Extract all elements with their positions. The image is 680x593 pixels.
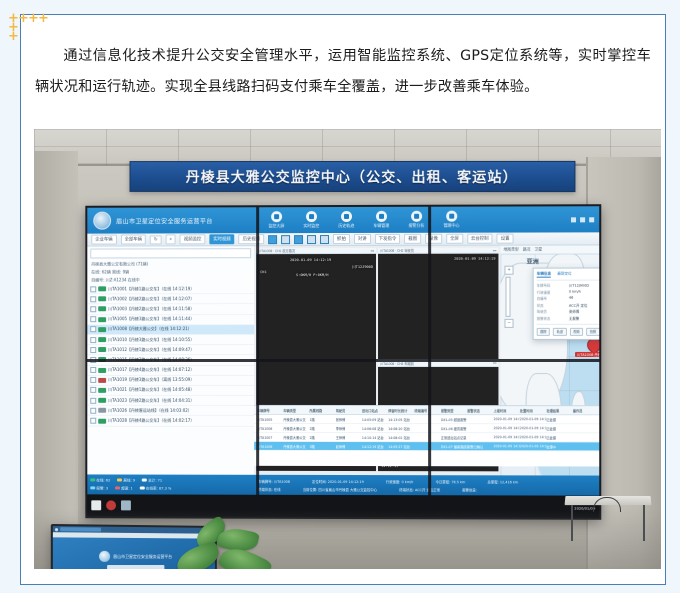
popup-field-key: 报警状态 — [537, 316, 567, 321]
status-line: 报警: 3 超速: 1 在线率: 87.3 % — [90, 484, 251, 492]
plus-mark: + — [8, 30, 19, 43]
vehicle-list-item-label: 川TA1028【丹棱4路公交车】（在线 14:02:17） — [108, 418, 194, 424]
bus-status-icon — [98, 337, 106, 342]
table-column-header[interactable]: 驾驶员 — [336, 407, 362, 412]
checkbox[interactable] — [90, 296, 96, 302]
vehicle-list-item-label: 川TA1003【丹棱2路公交车】（在线 14:11:58） — [108, 306, 194, 312]
bus-status-icon — [98, 368, 106, 373]
nav-label: 监控大屏 — [268, 223, 284, 229]
nav-item-vehicle-manage[interactable]: 车辆管理 — [369, 211, 393, 229]
center-signboard: 丹棱县大雅公交监控中心（公交、出租、客运站） — [130, 161, 576, 192]
ptz-button[interactable]: 云台控制 — [467, 234, 493, 244]
intercom-button[interactable]: 对讲 — [354, 234, 371, 244]
table-cell: 2020-01-09 14:10:44 — [520, 417, 546, 421]
vehicle-list-item-label: 川TA1019【丹棱3路公交车】（离线 13:55:09） — [108, 377, 194, 383]
video-osd-timestamp: 2020-01-09 14:12:19 — [454, 257, 495, 261]
table-cell: 丹棱县大雅公交 — [283, 434, 309, 439]
table-cell: DX1-05 超速报警 — [441, 417, 467, 422]
fleet-stat: 总计: 71 — [142, 478, 162, 483]
table-cell: 14:05:27 站台 — [388, 444, 414, 449]
vehicle-map-marker[interactable]: 川TA1008 丹棱大雅公交 — [587, 338, 599, 354]
table-column-header[interactable]: 停留时长统计 — [388, 408, 414, 413]
vehicle-list-item[interactable]: 川TA1001【丹棱1路公交车】（在线 14:12:19） — [87, 284, 254, 294]
username-field[interactable] — [107, 565, 164, 569]
map-zoom-control[interactable]: + − — [504, 266, 511, 328]
vehicle-list-item-label: 川TA1012【丹棱1路公交车】（在线 14:09:47） — [108, 347, 194, 353]
vehicle-list-item-label: 川TA1015【丹棱2路公交车】（在线 14:08:36） — [108, 357, 194, 363]
vehicle-stat: 车辆牌号: 川TA1008 — [258, 478, 290, 483]
table-cell: 2020-01-09 14:12:19 — [493, 444, 519, 448]
search-icon[interactable]: ⌕ — [165, 234, 175, 244]
vehicle-list-item[interactable]: 川TA1012【丹棱1路公交车】（在线 14:09:47） — [87, 345, 254, 355]
popup-action-buttons[interactable]: 跟踪轨迹视频拍照指令详情 — [537, 324, 600, 336]
table-cell: 2020-01-09 14:11:26 — [520, 426, 546, 430]
fleet-stat-label: 离线: 9 — [122, 478, 135, 482]
video-cell-title: 川TA1008 · CH2 驾驶员 — [380, 248, 414, 253]
video-osd-timestamp: 2020-01-09 14:12:19 — [290, 258, 331, 262]
layout-1-icon[interactable] — [268, 235, 277, 244]
platform-title: 眉山市卫星定位安全服务运营平台 — [116, 216, 213, 225]
table-column-header[interactable]: 车辆类型 — [283, 407, 309, 412]
article-body: 通过信息化技术提升公交安全管理水平，运用智能监控系统、GPS定位系统等，实时掌控… — [35, 41, 651, 103]
vehicle-list-item[interactable]: 川TA1026【丹棱客运站线】（在线 14:03:02） — [87, 406, 254, 416]
vehicle-list-item-label: 川TA1017【丹棱4路公交车】（在线 14:07:12） — [108, 367, 194, 373]
table-cell: DX1-06 疲劳报警 — [441, 426, 467, 431]
minimize-icon[interactable] — [571, 217, 576, 222]
tree-search-input[interactable] — [90, 248, 251, 258]
settings-icon — [446, 211, 457, 222]
table-header-row: 车辆牌号车辆类型所属线路驾驶员进出口站点停留时长统计终端编号报警类型报警状态上报… — [254, 406, 599, 415]
zoom-in-button[interactable]: + — [504, 266, 513, 275]
table-cell: 已处理 — [546, 435, 572, 440]
vehicle-list-item-label: 川TA1026【丹棱客运站线】（在线 14:03:02） — [108, 408, 192, 414]
vehicle-list-item-label: 川TA1001【丹棱1路公交车】（在线 14:12:19） — [108, 286, 194, 292]
popup-tab-latest-position[interactable]: 最新定位 — [557, 272, 571, 278]
table-column-header[interactable]: 处理结果 — [546, 408, 572, 413]
nav-item-monitor-wall[interactable]: 监控大屏 — [264, 211, 288, 229]
browser-dot-icon — [55, 528, 58, 531]
table-cell: 川TA1005 — [257, 416, 283, 421]
table-column-header[interactable]: 上报时间 — [493, 408, 519, 413]
fleet-stat: 在线: 62 — [90, 478, 110, 483]
table-cell: 14:10:14 站台 — [362, 435, 388, 440]
popup-field-value: 46 — [569, 296, 599, 301]
table-column-header[interactable]: 操作员 — [573, 408, 599, 413]
popup-field-key: 自编号 — [537, 296, 567, 301]
popup-field-key: 车牌号码 — [537, 283, 567, 288]
vehicle-stat: 报警信息: — [462, 487, 477, 492]
table-column-header[interactable]: 处置时间 — [520, 408, 546, 413]
nav-label: 报警分析 — [408, 223, 424, 229]
vehicle-list-item[interactable]: 川TA1021【丹棱1路公交车】（在线 14:05:48） — [87, 386, 254, 396]
record-button[interactable]: 录像 — [425, 234, 442, 244]
nav-label: 车辆管理 — [373, 223, 389, 229]
login-logo-row: 眉山市卫星定位安全服务运营平台 — [99, 551, 172, 562]
map-traffic-toggle[interactable]: 路况 — [523, 247, 531, 253]
checkbox[interactable] — [90, 397, 96, 403]
popup-field-value: 张师傅 — [569, 309, 599, 314]
monitoring-center-photo: 丹棱县大雅公交监控中心（公交、出租、客运站） 眉山市卫星定位安全服务运营平台 监… — [34, 129, 661, 569]
video-cell-titlebar: 川TA1008 · CH2 驾驶员 ••• — [378, 248, 498, 254]
table-cell: 丹棱县大雅公交 — [283, 416, 309, 421]
video-cell-title: 川TA1008 · CH3 车厢前 — [380, 360, 414, 365]
table-cell: 14:06:08 站台 — [362, 426, 388, 431]
checkbox[interactable] — [90, 347, 96, 353]
side-desk — [565, 495, 651, 547]
popup-field-value: ACC开 定位 — [569, 302, 599, 307]
vehicle-list-item[interactable]: 川TA1003【丹棱2路公交车】（在线 14:11:58） — [87, 304, 254, 314]
capture-button[interactable]: 抓拍 — [333, 234, 350, 244]
table-cell: 14:08:02 站台 — [388, 435, 414, 440]
table-cell: 2路 — [309, 434, 335, 439]
layout-4-icon[interactable] — [281, 235, 290, 244]
table-cell: 已处理 — [546, 417, 572, 422]
table-cell: 李师傅 — [336, 425, 362, 430]
bus-status-icon — [98, 297, 106, 302]
home-icon — [271, 211, 282, 222]
checkbox[interactable] — [90, 408, 96, 414]
map-marker-label: 川TA1008 丹棱大雅公交 — [575, 352, 599, 357]
table-cell: 14:05:09 站台 — [362, 417, 388, 422]
popup-field-key: 行驶速度 — [537, 289, 567, 294]
table-cell: 丹棱县大雅公交 — [283, 443, 309, 448]
video-osd-speed: S:0KM/H P:0KM/H — [296, 273, 328, 277]
nav-label: 管理中心 — [443, 223, 459, 229]
table-cell: 2路 — [309, 425, 335, 430]
status-line: 终端状态: 在线当前位置: 四川省眉山市丹棱县 大雅公交监控中心终端状态: AC… — [258, 485, 595, 494]
vehicle-status-bar: 车辆牌号: 川TA1008定位时间: 2020-01-09 14:12:19行驶… — [254, 475, 599, 496]
bus-status-icon — [98, 286, 106, 291]
video-monitor-chip[interactable]: 视频监控 — [180, 234, 205, 244]
checkbox[interactable] — [90, 286, 96, 292]
tree-meta-line: 自编号: 川Z·A1234 在线中 — [87, 276, 254, 284]
platform-logo-icon — [93, 212, 111, 230]
table-cell: 2020-01-09 14:05:09 — [493, 417, 519, 421]
popup-tab-vehicle-info[interactable]: 车辆信息 — [537, 272, 551, 278]
bus-status-icon — [98, 357, 106, 362]
video-icon — [306, 211, 317, 222]
popup-field-key: 状态 — [537, 303, 567, 308]
bus-status-icon — [98, 317, 106, 322]
table-column-header[interactable]: 所属线路 — [309, 407, 335, 412]
fleet-stat-label: 总计: 71 — [147, 478, 162, 482]
route-icon — [341, 211, 352, 222]
vehicle-list-item-label: 川TA1023【丹棱2路公交车】（在线 14:04:31） — [108, 397, 194, 403]
table-row[interactable]: 川TA1005丹棱县大雅公交1路张师傅14:05:09 站台14:13:05 站… — [254, 415, 599, 424]
nav-item-admin-center[interactable]: 管理中心 — [439, 211, 463, 229]
table-cell: 2020-01-09 14:14:05 — [520, 444, 546, 448]
table-cell: 张师傅 — [336, 416, 362, 421]
nav-label: 历史轨迹 — [338, 223, 354, 229]
app-header: 眉山市卫星定位安全服务运营平台 监控大屏 实时监控 历史轨迹 — [87, 206, 599, 233]
maximize-icon[interactable] — [580, 217, 585, 222]
close-icon[interactable] — [589, 217, 594, 222]
bus-status-icon — [98, 418, 106, 423]
checkbox[interactable] — [90, 327, 96, 333]
fleet-stat-label: 超速: 1 — [120, 486, 133, 490]
browser-tab — [60, 527, 101, 531]
live-video-chip[interactable]: 实时视频 — [209, 234, 234, 244]
video-cell-controls-icon[interactable]: ••• — [493, 248, 496, 252]
vehicle-stat: 当前位置: 四川省眉山市丹棱县 大雅公交监控中心 — [303, 486, 377, 491]
vehicle-list-item[interactable]: 川TA1015【丹棱2路公交车】（在线 14:08:36） — [87, 355, 254, 365]
table-cell: 3路 — [309, 443, 335, 448]
checkbox[interactable] — [90, 418, 96, 424]
table-cell: 川TA1008 — [257, 443, 283, 448]
table-column-header[interactable]: 终端编号 — [414, 408, 440, 413]
fullscreen-button[interactable]: 全屏 — [446, 234, 463, 244]
table-cell: 2020-01-09 14:07:32 — [493, 435, 519, 439]
bus-icon — [376, 211, 387, 222]
popup-action-视频[interactable]: 视频 — [570, 328, 583, 336]
map-toolbar: 地图类型 路况 卫星 — [500, 245, 599, 254]
desk-monitor: 眉山市卫星定位安全服务运营平台 — [51, 524, 217, 569]
table-cell: 1路 — [309, 416, 335, 421]
vehicle-stat: 行驶速度: 0 km/h — [386, 479, 414, 484]
vehicle-list-item-label: 川TA1002【丹棱2路公交车】（在线 14:12:07） — [108, 296, 194, 302]
table-cell: 处理中 — [546, 444, 572, 449]
bus-status-icon — [98, 327, 106, 332]
vehicle-stat: 今日里程: 76.5 km — [435, 479, 465, 484]
table-column-header[interactable]: 车辆牌号 — [257, 407, 283, 412]
vehicle-stat: 定位时间: 2020-01-09 14:12:19 — [312, 478, 364, 483]
popup-field-grid: 车牌号码川T12J900D定位时间2020-01-09 14:12:01行驶速度… — [537, 282, 600, 320]
table-row[interactable]: 川TA1008丹棱县大雅公交3路赵师傅14:12:19 站台14:05:27 站… — [254, 442, 599, 452]
bus-status-icon — [98, 408, 106, 413]
vehicle-list-item[interactable]: 川TA1019【丹棱3路公交车】（离线 13:55:09） — [87, 376, 254, 386]
bus-status-icon — [98, 378, 106, 383]
table-cell: 报警已确认 — [467, 444, 493, 449]
video-cell-controls-icon[interactable]: ••• — [371, 248, 374, 252]
vehicle-list-item[interactable]: 川TA1017【丹棱4路公交车】（在线 14:07:12） — [87, 365, 254, 375]
history-video-chip[interactable]: 历史视频 — [239, 234, 264, 244]
fleet-stat: 离线: 9 — [117, 478, 135, 483]
article-paragraph: 通过信息化技术提升公交安全管理水平，运用智能监控系统、GPS定位系统等，实时掌控… — [35, 41, 651, 103]
popup-field-value: 无报警 — [569, 316, 599, 321]
nav-label: 实时监控 — [303, 223, 319, 229]
video-osd-plate: 川T12J900D — [352, 265, 373, 270]
article-page: + + + + + + 通过信息化技术提升公交安全管理水平，运用智能监控系统、G… — [0, 0, 680, 593]
bus-status-icon — [98, 307, 106, 312]
popup-field-key: 驾驶员 — [537, 309, 567, 314]
table-cell: 14:13:05 站台 — [388, 417, 414, 422]
fleet-stat: 在线率: 87.3 % — [140, 486, 172, 491]
layout-9-icon[interactable] — [294, 235, 303, 244]
table-cell: 正常进出站点记录 — [441, 435, 467, 440]
type-filter-select[interactable]: 全部车辆 — [121, 234, 146, 244]
ceiling — [34, 129, 661, 165]
table-cell: 2020-01-09 14:12:47 — [520, 435, 546, 439]
refresh-icon[interactable]: ↻ — [150, 235, 162, 244]
fleet-stat-label: 在线率: 87.3 % — [145, 486, 172, 490]
desk-leg — [643, 505, 645, 541]
vehicle-list-item[interactable]: 川TA1010【丹棱3路公交车】（在线 14:10:55） — [87, 335, 254, 345]
checkbox[interactable] — [90, 367, 96, 373]
table-cell: 丹棱县大雅公交 — [283, 425, 309, 430]
vehicle-list-item-label: 川TA1010【丹棱3路公交车】（在线 14:10:55） — [108, 337, 194, 343]
bus-status-icon — [98, 398, 106, 403]
popup-action-轨迹[interactable]: 轨迹 — [553, 328, 566, 336]
window-buttons[interactable] — [571, 217, 594, 222]
fleet-status-bar: 在线: 62 离线: 9 总计: 71 报警: 3 超速: 1 在线率: 87.… — [87, 474, 254, 494]
checkbox[interactable] — [90, 337, 96, 343]
vehicle-list-item[interactable]: 川TA1023【丹棱2路公交车】（在线 14:04:31） — [87, 396, 254, 406]
checkbox[interactable] — [90, 306, 96, 312]
nav-item-history-track[interactable]: 历史轨迹 — [334, 211, 358, 229]
screenshot-button[interactable]: 截图 — [404, 234, 421, 244]
popup-field-value: 川T12J900D — [569, 283, 599, 288]
checkbox[interactable] — [90, 377, 96, 383]
fleet-stat-label: 报警: 3 — [95, 486, 108, 490]
bus-status-icon — [98, 347, 106, 352]
vehicle-stat: 总里程: 12,416 km — [487, 479, 518, 484]
desk-leg — [571, 505, 573, 541]
table-cell: 王师傅 — [336, 434, 362, 439]
checkbox[interactable] — [90, 357, 96, 363]
vehicle-list-item[interactable]: 川TA1028【丹棱4路公交车】（在线 14:02:17） — [87, 416, 254, 426]
table-cell: 川TA1007 — [257, 434, 283, 439]
table-column-header[interactable]: 报警类型 — [441, 408, 467, 413]
vehicle-list[interactable]: 川TA1001【丹棱1路公交车】（在线 14:12:19）川TA1002【丹棱2… — [87, 284, 254, 426]
plus-mark: + — [8, 12, 19, 25]
video-cell-titlebar: 川TA1008 · CH3 车厢前 ••• — [378, 360, 498, 366]
table-cell: 14:08:20 站台 — [388, 426, 414, 431]
alarm-data-table[interactable]: 车辆牌号车辆类型所属线路驾驶员进出口站点停留时长统计终端编号报警类型报警状态上报… — [254, 405, 599, 467]
vehicle-list-item-label: 川TA1005【丹棱3路公交车】（在线 14:11:44） — [108, 316, 194, 322]
ceiling-tile-grid — [34, 129, 661, 165]
zoom-slider[interactable] — [505, 277, 510, 317]
group-filter-select[interactable]: 企业车辆 — [91, 235, 116, 245]
table-cell: 14:12:19 站台 — [362, 444, 388, 449]
popup-action-跟踪[interactable]: 跟踪 — [537, 328, 550, 336]
table-cell: 赵师傅 — [336, 443, 362, 448]
send-command-button[interactable]: 下发指令 — [375, 234, 401, 244]
video-cell-ch2[interactable]: 川TA1008 · CH2 驾驶员 ••• 2020-01-09 14:12:1… — [378, 248, 498, 359]
vehicle-list-item[interactable]: 川TA1002【丹棱2路公交车】（在线 14:12:07） — [87, 294, 254, 304]
map-region-label: 亚洲 — [527, 257, 539, 266]
video-wall-display: 眉山市卫星定位安全服务运营平台 监控大屏 实时监控 历史轨迹 — [85, 204, 601, 520]
app-nav: 监控大屏 实时监控 历史轨迹 车辆管理 — [264, 211, 463, 230]
table-column-header[interactable]: 报警状态 — [467, 408, 493, 413]
tree-meta-line: 在线: 62辆 离线: 9辆 — [87, 268, 254, 276]
platform-logo-icon — [99, 551, 110, 562]
bus-status-icon — [98, 388, 106, 393]
map-type-select[interactable]: 地图类型 — [503, 247, 518, 253]
fleet-stat-label: 在线: 62 — [95, 478, 110, 482]
table-row[interactable]: 川TA1006丹棱县大雅公交2路李师傅14:06:08 站台14:08:20 站… — [254, 424, 599, 433]
fleet-stat: 超速: 1 — [115, 486, 133, 491]
vehicle-tree-panel[interactable]: 丹棱县大雅公交有限公司 (71辆) 在线: 62辆 离线: 9辆 自编号: 川Z… — [87, 246, 255, 475]
settings-button[interactable]: 设置 — [497, 234, 514, 244]
checkbox[interactable] — [90, 387, 96, 393]
login-screen: 眉山市卫星定位安全服务运营平台 — [53, 537, 215, 569]
login-title: 眉山市卫星定位安全服务运营平台 — [113, 553, 172, 559]
table-cell: 已处理 — [546, 426, 572, 431]
vehicle-stat: 终端状态: ACC开 定位正常 — [399, 487, 440, 492]
table-cell: DX1-07 偏离路线报警 — [441, 444, 467, 449]
map-satellite-toggle[interactable]: 卫星 — [534, 247, 542, 253]
checkbox[interactable] — [90, 316, 96, 322]
vehicle-list-item-label: 川TA1021【丹棱1路公交车】（在线 14:05:48） — [108, 387, 194, 393]
layout-custom-icon[interactable] — [320, 235, 329, 244]
fleet-stat: 报警: 3 — [90, 486, 108, 491]
video-cell-controls-icon[interactable]: ••• — [493, 361, 496, 365]
vehicle-list-item[interactable]: 川TA1008【丹棱大雅公交】（在线 14:12:21） — [87, 325, 254, 335]
video-osd-channel: CH1 — [260, 270, 266, 274]
alert-icon — [411, 211, 422, 222]
vehicle-info-popup[interactable]: 车辆信息 最新定位 ✕ 车牌号码川T12J900D定位时间2020-01-09 … — [533, 267, 600, 340]
popup-tabs[interactable]: 车辆信息 最新定位 ✕ — [537, 271, 600, 280]
nav-item-live-monitor[interactable]: 实时监控 — [299, 211, 323, 229]
layout-16-icon[interactable] — [307, 235, 316, 244]
vehicle-list-item-label: 川TA1008【丹棱大雅公交】（在线 14:12:21） — [108, 326, 192, 332]
table-body[interactable]: 川TA1005丹棱县大雅公交1路张师傅14:05:09 站台14:13:05 站… — [254, 415, 599, 452]
article-card: 通过信息化技术提升公交安全管理水平，运用智能监控系统、GPS定位系统等，实时掌控… — [20, 14, 666, 585]
popup-action-拍照[interactable]: 拍照 — [586, 328, 599, 336]
nav-item-alarm-analysis[interactable]: 报警分析 — [404, 211, 428, 229]
table-cell: 2020-01-09 14:06:24 — [493, 426, 519, 430]
popup-field-value: 0 km/h — [569, 289, 599, 294]
plus-mark: + — [8, 21, 19, 34]
zoom-out-button[interactable]: − — [504, 319, 513, 328]
table-column-header[interactable]: 进出口站点 — [362, 408, 388, 413]
video-cell-title: 川TA1008 · CH1 前方路况 — [258, 248, 295, 253]
vehicle-list-item[interactable]: 川TA1005【丹棱3路公交车】（在线 14:11:44） — [87, 315, 254, 325]
app-toolbar: 企业车辆 全部车辆 ↻ ⌕ 视频监控 实时视频 历史视频 抓拍 对讲 下发指令 … — [87, 232, 599, 246]
table-cell: 川TA1006 — [257, 425, 283, 430]
left-wall — [34, 151, 78, 569]
video-cell-titlebar: 川TA1008 · CH1 前方路况 ••• — [256, 248, 376, 254]
vehicle-stat: 终端状态: 在线 — [258, 486, 281, 491]
signboard-text: 丹棱县大雅公交监控中心（公交、出租、客运站） — [186, 166, 518, 186]
